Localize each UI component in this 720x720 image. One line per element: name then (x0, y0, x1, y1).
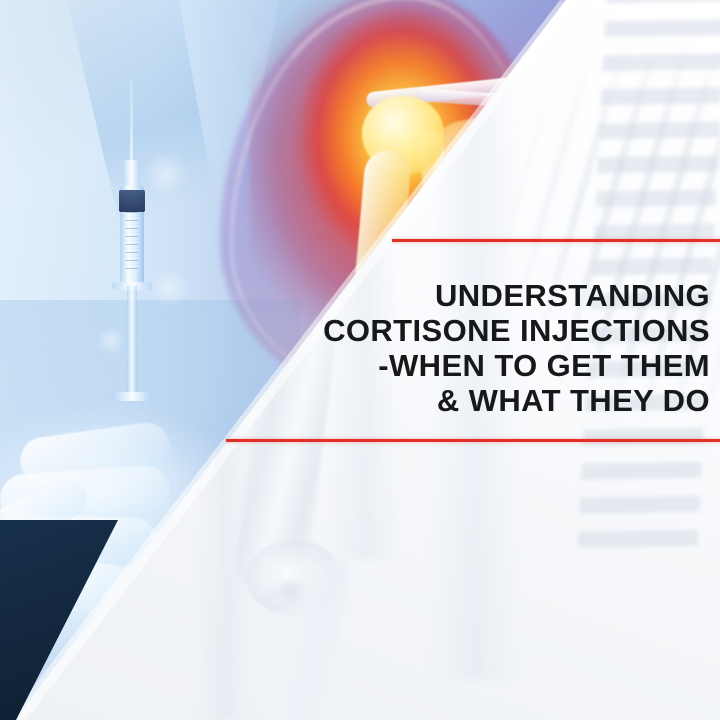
bottom-red-rule (226, 439, 720, 442)
syringe-hub (123, 160, 140, 188)
title-line-1: UNDERSTANDING (170, 278, 710, 313)
top-red-rule (392, 239, 720, 242)
bokeh-highlight (142, 150, 190, 198)
title-line-4: & WHAT THEY DO (170, 383, 710, 418)
title-line-2: CORTISONE INJECTIONS (170, 313, 710, 348)
syringe-plunger-rod (127, 286, 137, 396)
banner-title: UNDERSTANDING CORTISONE INJECTIONS -WHEN… (170, 278, 710, 418)
title-line-3: -WHEN TO GET THEM (170, 348, 710, 383)
bokeh-highlight (96, 326, 126, 356)
syringe-needle-icon (130, 80, 133, 168)
cortisone-injection-banner: UNDERSTANDING CORTISONE INJECTIONS -WHEN… (0, 0, 720, 720)
syringe-stopper (119, 190, 145, 212)
